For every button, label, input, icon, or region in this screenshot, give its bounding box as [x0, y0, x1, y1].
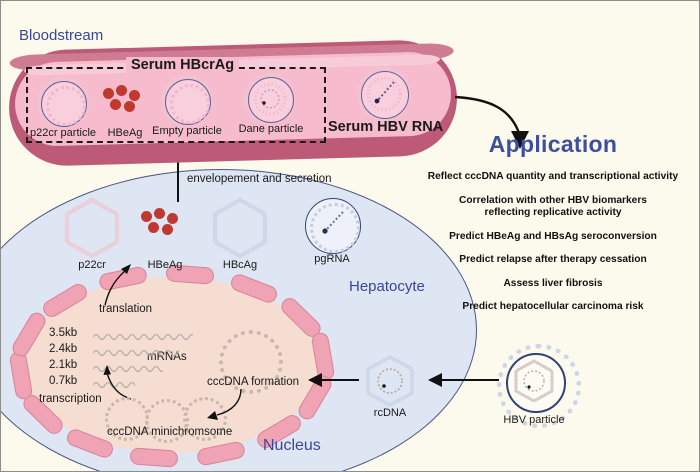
mrna-strand [93, 331, 193, 343]
p22cr-hex-icon [61, 197, 123, 259]
hbeag-dot [110, 99, 121, 110]
mrna-size-label: 2.1kb [49, 359, 77, 371]
mrna-size-label: 0.7kb [49, 375, 77, 387]
p22cr-particle-bead-ring [46, 86, 86, 126]
dane-particle-label: Dane particle [235, 123, 307, 135]
transcription-arrow [91, 357, 133, 401]
figure-canvas: Nucleus Hepatocyte 3.5kb2.4kb2.1kb0.7kb … [0, 0, 700, 472]
application-title: Application [405, 131, 700, 158]
pgrna-strand-icon [313, 206, 351, 244]
hbeag-dot [141, 211, 152, 222]
p22cr-particle-label: p22cr particle [23, 127, 103, 139]
bloodstream-label: Bloodstream [19, 27, 103, 44]
application-list: Reflect cccDNA quantity and transcriptio… [405, 171, 700, 325]
envelopement-label: envelopement and secretion [187, 173, 332, 185]
hbeag-blood-label: HBeAg [97, 127, 153, 139]
hbcag-hex-icon [209, 197, 271, 259]
pgrna-label: pgRNA [302, 253, 362, 265]
application-item: Predict relapse after therapy cessation [405, 254, 700, 267]
application-item: Predict hepatocellular carcinoma risk [405, 301, 700, 314]
rcdna-to-nucleus-arrow-head [308, 373, 322, 387]
hbeag-dot [167, 213, 178, 224]
serum-hbv-rna-strand-icon [365, 75, 403, 113]
application-item: Reflect cccDNA quantity and transcriptio… [405, 171, 700, 184]
hbeag-dot [148, 222, 159, 233]
hbeag-dot [103, 88, 114, 99]
hbv-particle-capsid-icon [511, 358, 557, 404]
application-item: Correlation with other HBV biomarkersref… [405, 195, 700, 220]
hbeag-dot [154, 208, 165, 219]
cccdna-minichromosome-label: cccDNA minichromsome [107, 426, 232, 438]
hbeag-dot [124, 101, 135, 112]
hbcag-label: HBcAg [210, 259, 270, 271]
empty-particle-label: Empty particle [151, 125, 223, 137]
entry-arrow-head [428, 373, 442, 387]
hbv-particle-label: HBV particle [489, 414, 579, 426]
mrna-size-label: 2.4kb [49, 343, 77, 355]
nucleus-label: Nucleus [263, 437, 321, 455]
cccdna-formation-arrow [199, 387, 249, 423]
application-item: Assess liver fibrosis [405, 278, 700, 291]
serum-hbcrag-label: Serum HBcrAg [126, 57, 239, 73]
application-item: Predict HBeAg and HBsAg seroconversion [405, 231, 700, 244]
translation-arrow [97, 259, 141, 307]
mrna-size-label: 3.5kb [49, 327, 77, 339]
dane-particle-genome-icon [252, 81, 288, 117]
empty-particle-bead-ring [170, 84, 210, 124]
hbeag-dot [116, 85, 127, 96]
hbeag-label-cytoplasm: HBeAg [135, 259, 195, 271]
entry-arrow-line [441, 379, 499, 381]
rcdna-hex-icon [363, 354, 417, 408]
rcdna-label: rcDNA [363, 407, 417, 419]
hbeag-dot [162, 224, 173, 235]
hbeag-dot [129, 90, 140, 101]
rcdna-to-nucleus-arrow-line [321, 379, 359, 381]
